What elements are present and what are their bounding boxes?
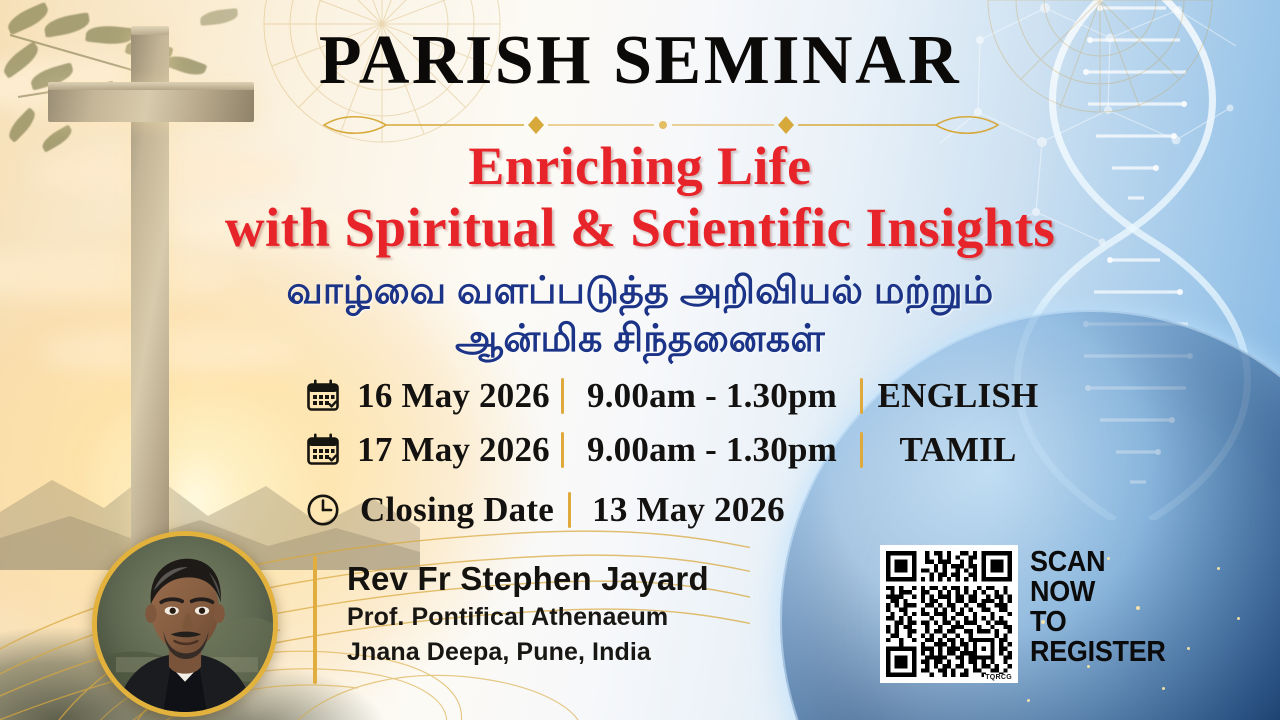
scan-cta: SCAN NOW TO REGISTER xyxy=(1030,548,1166,667)
speaker-affiliation: Prof. Pontifical Athenaeum xyxy=(347,601,709,634)
schedule-date: 17 May 2026 xyxy=(346,430,561,470)
schedule-list: 16 May 2026 9.00am - 1.30pm ENGLISH xyxy=(300,370,1053,536)
speaker-accent-rule xyxy=(313,556,317,684)
headline-line-2: with Spiritual & Scientific Insights xyxy=(0,197,1280,259)
speaker-info: Rev Fr Stephen Jayard Prof. Pontifical A… xyxy=(347,560,709,669)
scan-cta-line-3: TO xyxy=(1030,608,1166,638)
speaker-location: Jnana Deepa, Pune, India xyxy=(347,636,709,669)
seminar-poster: PARISH SEMINAR Enriching Life with Spiri… xyxy=(0,0,1280,720)
subtitle-tamil: வாழ்வை வளப்படுத்த அறிவியல் மற்றும் ஆன்மி… xyxy=(0,268,1280,363)
qr-code[interactable]: TQRCG xyxy=(880,545,1018,683)
schedule-date: 16 May 2026 xyxy=(346,376,561,416)
closing-date-label: Closing Date xyxy=(346,490,568,530)
schedule-time: 9.00am - 1.30pm xyxy=(564,430,860,470)
closing-date-value: 13 May 2026 xyxy=(571,490,806,530)
speaker-name: Rev Fr Stephen Jayard xyxy=(347,560,709,598)
gold-divider xyxy=(316,112,1006,138)
scan-cta-line-4: REGISTER xyxy=(1030,638,1166,668)
calendar-icon xyxy=(300,432,346,468)
subtitle-line-1: வாழ்வை வளப்படுத்த அறிவியல் மற்றும் xyxy=(0,268,1280,316)
portrait-photo xyxy=(97,536,273,712)
clock-icon xyxy=(300,492,346,528)
schedule-row: 16 May 2026 9.00am - 1.30pm ENGLISH xyxy=(300,370,1053,422)
headline-line-1: Enriching Life xyxy=(0,136,1280,197)
schedule-language: TAMIL xyxy=(863,430,1053,470)
headline: Enriching Life with Spiritual & Scientif… xyxy=(0,136,1280,259)
scan-cta-line-1: SCAN xyxy=(1030,548,1166,578)
page-title: PARISH SEMINAR xyxy=(0,26,1280,96)
qr-code-image[interactable] xyxy=(886,551,1012,677)
schedule-time: 9.00am - 1.30pm xyxy=(564,376,860,416)
calendar-icon xyxy=(300,378,346,414)
schedule-row: 17 May 2026 9.00am - 1.30pm TAMIL xyxy=(300,424,1053,476)
scan-cta-line-2: NOW xyxy=(1030,578,1166,608)
qr-watermark: TQRCG xyxy=(984,674,1013,681)
closing-date-row: Closing Date 13 May 2026 xyxy=(300,484,1053,536)
avatar xyxy=(92,531,278,717)
subtitle-line-2: ஆன்மிக சிந்தனைகள் xyxy=(0,316,1280,364)
schedule-language: ENGLISH xyxy=(863,376,1053,416)
